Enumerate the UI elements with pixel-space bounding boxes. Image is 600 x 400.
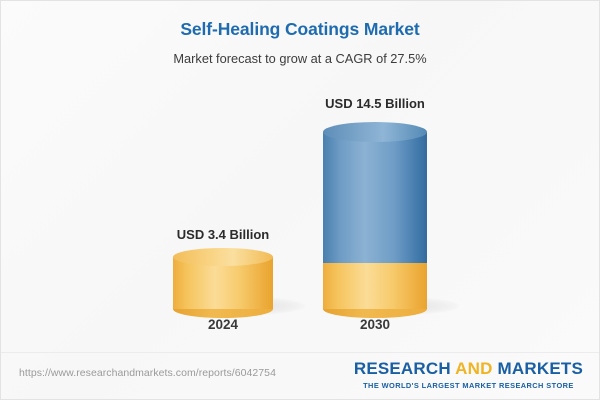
logo-word-research: RESEARCH [354,359,451,378]
cylinder-2030 [323,132,427,263]
value-label-2030: USD 14.5 Billion [275,96,475,111]
cylinder-base-2030 [323,263,427,309]
cylinder-body-2030 [323,132,427,263]
infographic-card: Self-Healing Coatings Market Market fore… [0,0,600,400]
logo-word-markets: MARKETS [498,359,583,378]
logo-tagline: THE WORLD'S LARGEST MARKET RESEARCH STOR… [354,381,583,390]
cylinder-top-cap-2030 [323,122,427,142]
logo-word-and: AND [455,359,492,378]
value-label-2024: USD 3.4 Billion [123,227,323,242]
category-label-2030: 2030 [275,317,475,332]
cylinder-top-cap-2024 [173,248,273,266]
logo-wordmark: RESEARCH AND MARKETS [354,360,583,378]
cylinder-2024 [173,257,273,309]
chart-plot-area: USD 3.4 Billion 2024 USD 14.5 Billion 20 [1,1,600,353]
source-url-link[interactable]: https://www.researchandmarkets.com/repor… [19,367,276,379]
brand-logo[interactable]: RESEARCH AND MARKETS THE WORLD'S LARGEST… [354,360,583,390]
footer: https://www.researchandmarkets.com/repor… [1,352,599,399]
cylinder-base-body-2030 [323,263,427,309]
